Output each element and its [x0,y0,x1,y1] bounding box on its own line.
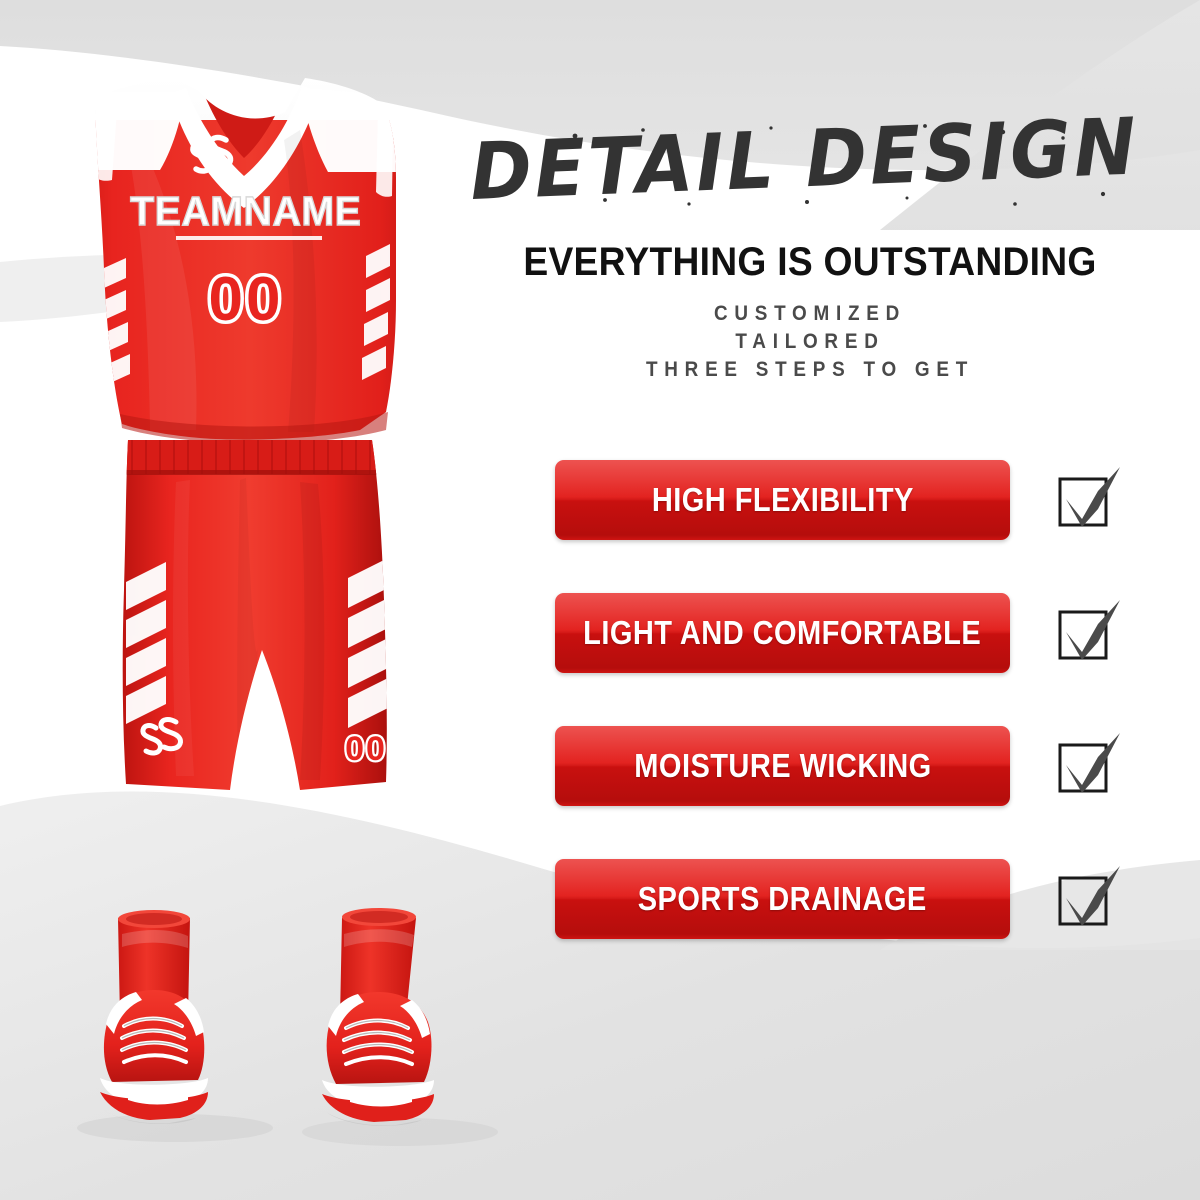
feature-row: SPORTS DRAINAGE [555,854,1175,944]
checkbox-checked-icon [1052,465,1122,535]
feature-label: MOISTURE WICKING [634,747,931,785]
shoe-right [322,908,434,1126]
feature-label: HIGH FLEXIBILITY [652,481,914,519]
shoe-left [100,910,208,1124]
product-illustration: TEAMNAME 00 [0,0,500,1200]
shorts-graphic: 00 [110,432,400,790]
feature-banner-moisture-wicking[interactable]: MOISTURE WICKING [555,726,1010,806]
page-title: DETAIL DESIGN [455,112,1155,212]
shoes-graphic [100,908,434,1126]
checkbox-checked-icon [1052,598,1122,668]
feature-label: SPORTS DRAINAGE [638,880,927,918]
checkbox-checked-icon [1052,731,1122,801]
feature-row: LIGHT AND COMFORTABLE [555,588,1175,678]
feature-row: HIGH FLEXIBILITY [555,455,1175,545]
tagline-3: THREE STEPS TO GET [491,356,1130,384]
tagline-1: CUSTOMIZED [491,300,1130,328]
content-column: DETAIL DESIGN EVERYTHING IS OUTSTANDING … [455,0,1200,1200]
feature-banner-high-flexibility[interactable]: HIGH FLEXIBILITY [555,460,1010,540]
page-subtitle: EVERYTHING IS OUTSTANDING [480,240,1140,285]
jersey-team-name: TEAMNAME [130,188,361,240]
tagline-list: CUSTOMIZED TAILORED THREE STEPS TO GET [491,300,1130,384]
shorts-number: 00 [345,730,387,768]
page-title-text: DETAIL DESIGN [469,112,1141,212]
tagline-2: TAILORED [491,328,1130,356]
checkbox-checked-icon [1052,864,1122,934]
feature-list: HIGH FLEXIBILITY LIGHT AND COMFORTABLE [555,455,1175,987]
jersey-number: 00 [209,265,284,334]
poster-canvas: TEAMNAME 00 [0,0,1200,1200]
svg-text:TEAMNAME: TEAMNAME [130,188,361,234]
feature-banner-sports-drainage[interactable]: SPORTS DRAINAGE [555,859,1010,939]
feature-row: MOISTURE WICKING [555,721,1175,811]
feature-banner-light-and-comfortable[interactable]: LIGHT AND COMFORTABLE [555,593,1010,673]
jersey-graphic: TEAMNAME 00 [60,66,440,461]
feature-label: LIGHT AND COMFORTABLE [583,614,981,652]
